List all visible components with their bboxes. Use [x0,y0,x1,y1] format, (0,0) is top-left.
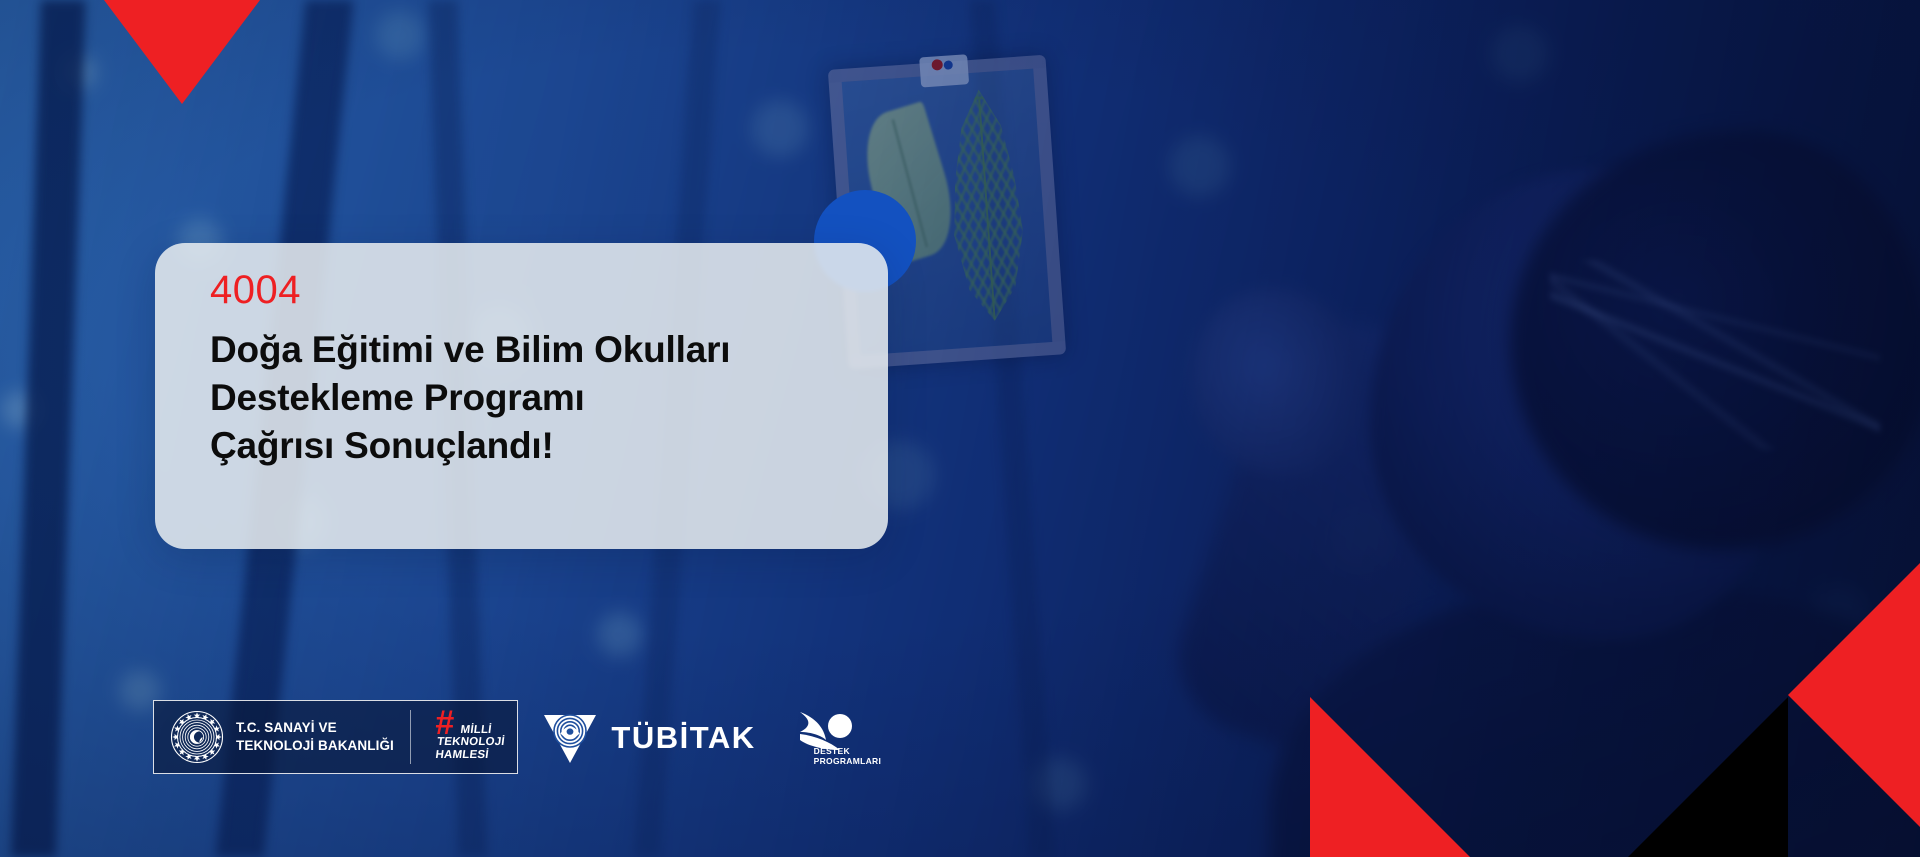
program-code: 4004 [210,270,854,310]
milli-line-2: TEKNOLOJİ [437,736,506,748]
tubitak-wordmark: TÜBİTAK [611,722,755,753]
destek-line-2: PROGRAMLARI [814,756,882,766]
ministry-line-1: T.C. SANAYİ VE [236,720,337,735]
turkish-republic-emblem-icon [170,710,224,764]
ministry-name: T.C. SANAYİ VE TEKNOLOJİ BAKANLIĞI [236,719,394,755]
logo-strip: T.C. SANAYİ VE TEKNOLOJİ BAKANLIĞI # MİL… [153,700,874,774]
red-triangle-right-icon [1788,563,1920,827]
milli-teknoloji-text: MİLLİ TEKNOLOJİ HAMLESİ [435,724,507,761]
ministry-logo-block: T.C. SANAYİ VE TEKNOLOJİ BAKANLIĞI # MİL… [153,700,518,774]
milli-line-1: MİLLİ [438,724,507,736]
destek-programlari-logo: DESTEK PROGRAMLARI [796,706,874,768]
tubitak-triangle-mark-icon [542,709,598,765]
logo-divider [410,710,412,764]
tubitak-logo: TÜBİTAK [542,709,755,765]
announcement-card: 4004 Doğa Eğitimi ve Bilim Okulları Dest… [155,243,888,549]
ministry-line-2: TEKNOLOJİ BAKANLIĞI [236,738,394,753]
card-content: 4004 Doğa Eğitimi ve Bilim Okulları Dest… [210,270,854,470]
destek-line-1: DESTEK [814,746,882,756]
red-triangle-left-icon [1310,697,1470,857]
black-triangle-center-icon [1628,697,1788,857]
milli-teknoloji-hamlesi-logo: # MİLLİ TEKNOLOJİ HAMLESİ [427,708,501,766]
campaign-banner: 4004 Doğa Eğitimi ve Bilim Okulları Dest… [0,0,1920,857]
title-line-3: Çağrısı Sonuçlandı! [210,422,854,470]
corner-triangle-decoration [1282,537,1920,857]
red-down-triangle-icon [104,0,260,104]
destek-programlari-text: DESTEK PROGRAMLARI [814,746,882,766]
title-line-2: Destekleme Programı [210,374,854,422]
title-line-1: Doğa Eğitimi ve Bilim Okulları [210,326,854,374]
milli-line-3: HAMLESİ [435,749,504,761]
page-title: Doğa Eğitimi ve Bilim Okulları Desteklem… [210,326,854,470]
